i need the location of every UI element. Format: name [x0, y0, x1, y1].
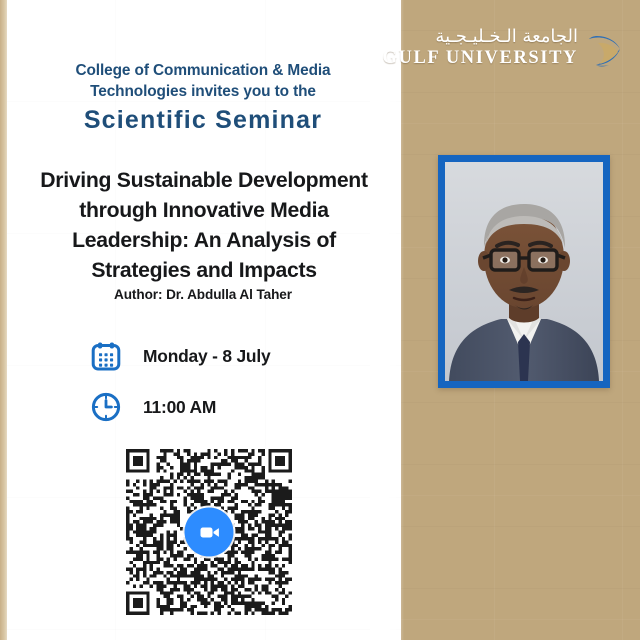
- gulf-university-logo: الجامعة الـخـليـجـية GULF UNIVERSITY: [383, 22, 625, 72]
- date-label: Monday - 8 July: [143, 346, 270, 367]
- event-type-heading: Scientific Seminar: [5, 106, 401, 135]
- logo-english-name: GULF UNIVERSITY: [383, 48, 579, 69]
- title-line-1: Driving Sustainable Development: [13, 166, 395, 196]
- logo-text-block: الجامعة الـخـليـجـية GULF UNIVERSITY: [383, 26, 579, 69]
- organizer-line-1: College of Communication & Media: [5, 60, 401, 81]
- organizer-line-2: Technologies invites you to the: [5, 81, 401, 102]
- title-line-2: through Innovative Media: [13, 196, 395, 226]
- title-line-3: Leadership: An Analysis of: [13, 226, 395, 256]
- logo-arabic-name: الجامعة الـخـليـجـية: [435, 26, 578, 48]
- seminar-title: Driving Sustainable Development through …: [13, 166, 395, 286]
- speaker-portrait-photo: [445, 162, 603, 381]
- seminar-poster: الجامعة الـخـليـجـية GULF UNIVERSITY: [0, 0, 640, 640]
- calendar-icon: [89, 339, 123, 373]
- clock-icon: [89, 390, 123, 424]
- date-row: Monday - 8 July: [89, 339, 270, 373]
- organizer-heading: College of Communication & Media Technol…: [5, 60, 401, 102]
- zoom-meeting-badge[interactable]: [185, 508, 234, 557]
- qr-code-block[interactable]: [126, 449, 292, 615]
- poster-content: College of Communication & Media Technol…: [5, 0, 401, 640]
- title-line-4: Strategies and Impacts: [13, 256, 395, 286]
- zoom-video-camera-icon: [196, 519, 222, 545]
- time-label: 11:00 AM: [143, 397, 216, 418]
- gulf-university-swoosh-mark: [584, 22, 624, 72]
- time-row: 11:00 AM: [89, 390, 216, 424]
- speaker-portrait-frame: [438, 155, 610, 388]
- author-line: Author: Dr. Abdulla Al Taher: [5, 287, 401, 302]
